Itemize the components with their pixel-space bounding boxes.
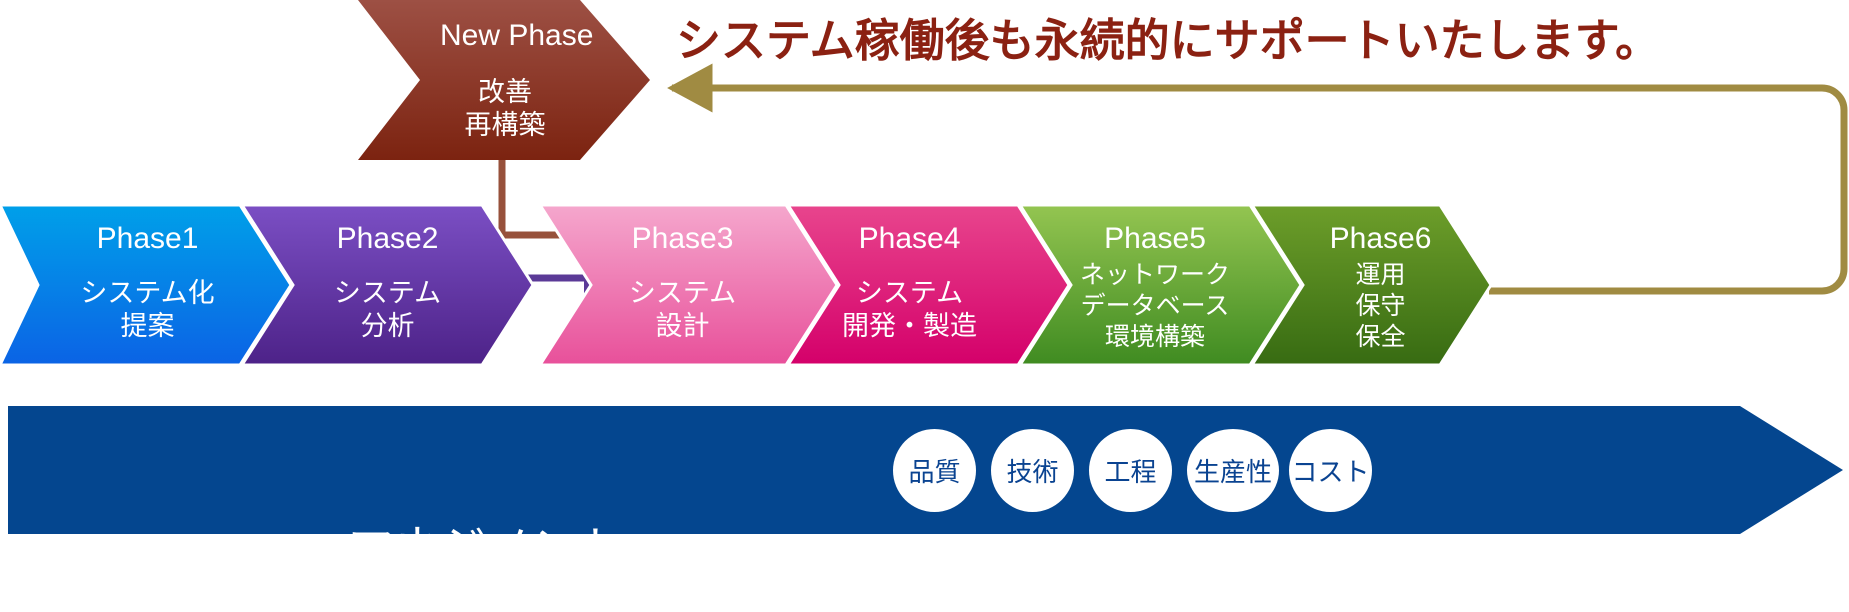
- kpi-circle-cost[interactable]: コスト: [1289, 429, 1372, 512]
- kpi-circle-quality[interactable]: 品質: [893, 429, 976, 512]
- headline-text: システム稼働後も永続的にサポートいたします。: [676, 4, 1660, 69]
- phase-chevron-3[interactable]: [540, 205, 837, 365]
- phase-chevron-1[interactable]: [0, 205, 291, 365]
- new-phase-shape[interactable]: [358, 0, 650, 160]
- diagram-canvas: システム稼働後も永続的にサポートいたします。 New Phase 改善 再構築 …: [0, 0, 1849, 612]
- shapes-layer: [0, 0, 1849, 612]
- management-title: マネジメント: [348, 512, 624, 578]
- kpi-circle-technology[interactable]: 技術: [991, 429, 1074, 512]
- kpi-circle-process[interactable]: 工程: [1089, 429, 1172, 512]
- kpi-circle-productivity[interactable]: 生産性: [1187, 429, 1279, 512]
